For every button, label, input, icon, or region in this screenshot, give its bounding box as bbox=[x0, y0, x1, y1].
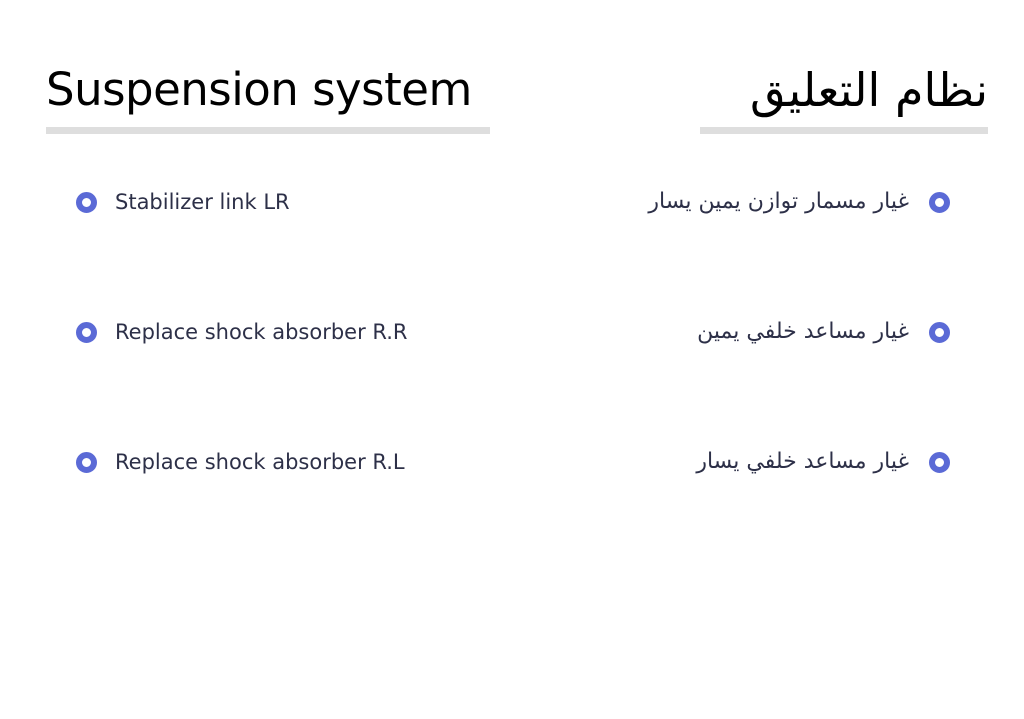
slide-canvas: Suspension system نظام التعليق Stabilize… bbox=[0, 0, 1024, 719]
ring-bullet-icon bbox=[76, 192, 97, 213]
list-item-label: Replace shock absorber R.L bbox=[115, 448, 405, 476]
left-heading-block: Suspension system bbox=[46, 62, 490, 134]
ring-bullet-icon bbox=[929, 452, 950, 473]
ring-bullet-icon bbox=[929, 192, 950, 213]
ring-bullet-icon bbox=[76, 322, 97, 343]
list-item-label: غيار مساعد خلفي يمين bbox=[697, 318, 909, 346]
list-item: Replace shock absorber R.L bbox=[76, 444, 408, 480]
right-heading-underline bbox=[700, 127, 988, 134]
list-item-label: غيار مساعد خلفي يسار bbox=[696, 448, 909, 476]
list-item-label: Replace shock absorber R.R bbox=[115, 318, 408, 346]
list-item: Stabilizer link LR bbox=[76, 184, 408, 220]
ring-bullet-icon bbox=[76, 452, 97, 473]
list-item: غيار مساعد خلفي يمين bbox=[648, 314, 950, 350]
list-item-label: غيار مسمار توازن يمين يسار bbox=[648, 188, 909, 216]
left-bullet-list: Stabilizer link LR Replace shock absorbe… bbox=[76, 184, 408, 574]
right-bullet-list: غيار مسمار توازن يمين يسار غيار مساعد خل… bbox=[648, 184, 950, 574]
list-item-label: Stabilizer link LR bbox=[115, 188, 290, 216]
left-heading-underline bbox=[46, 127, 490, 134]
list-item: غيار مسمار توازن يمين يسار bbox=[648, 184, 950, 220]
right-heading-block: نظام التعليق bbox=[700, 62, 988, 134]
right-heading-title: نظام التعليق bbox=[700, 62, 988, 118]
list-item: غيار مساعد خلفي يسار bbox=[648, 444, 950, 480]
left-heading-title: Suspension system bbox=[46, 62, 490, 118]
list-item: Replace shock absorber R.R bbox=[76, 314, 408, 350]
ring-bullet-icon bbox=[929, 322, 950, 343]
